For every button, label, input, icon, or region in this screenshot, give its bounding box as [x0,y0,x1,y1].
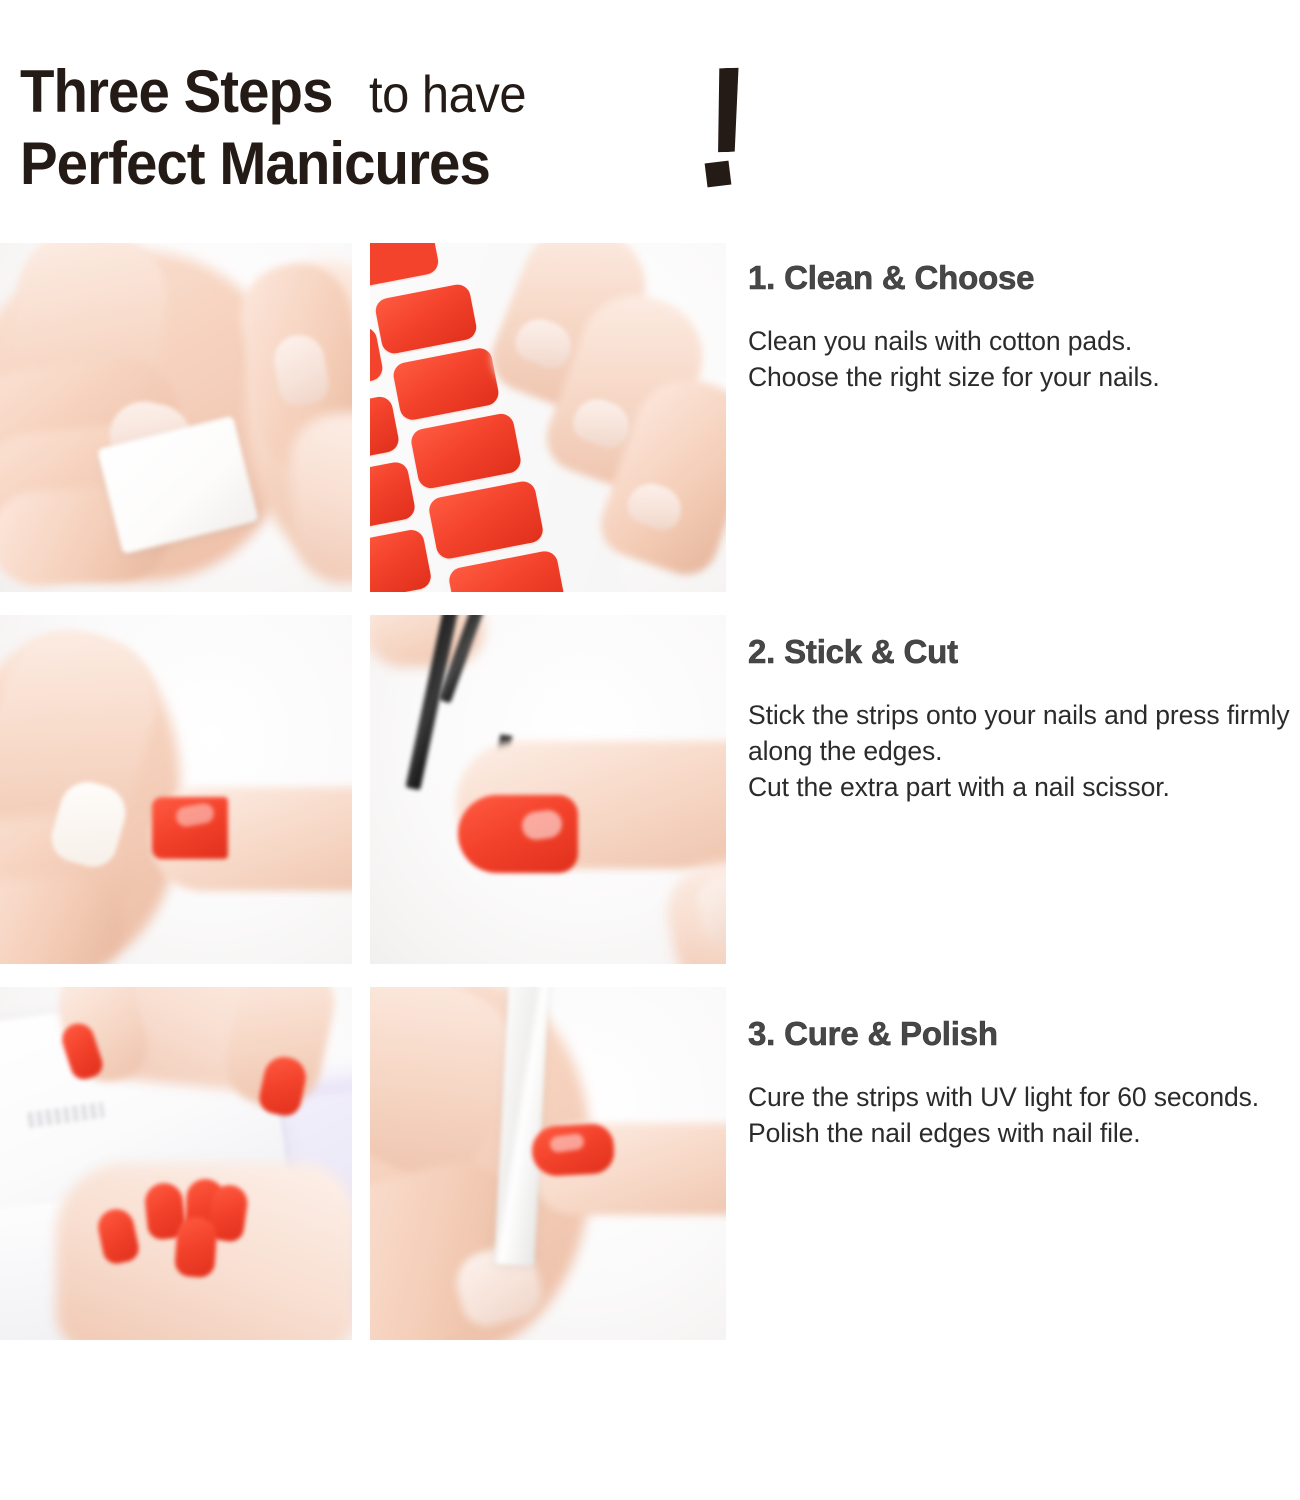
step-2-line-2: Cut the extra part with a nail scissor. [748,769,1300,805]
step-3-body: Cure the strips with UV light for 60 sec… [748,1079,1300,1151]
red-nail-shape [458,795,578,873]
photo-row-2 [0,615,726,964]
step-2-body: Stick the strips onto your nails and pre… [748,697,1300,805]
red-nail-shape [174,1216,218,1279]
photo-sticking-red-strip-on-nail [0,615,352,964]
title-bold-2: Perfect Manicures [20,134,490,194]
photo-red-nail-strip-sheet [370,243,726,592]
photo-row-1 [0,243,726,592]
step-1-body: Clean you nails with cotton pads. Choose… [748,323,1300,395]
step-3-line-2: Polish the nail edges with nail file. [748,1115,1300,1151]
title-bold-1: Three Steps [20,62,333,122]
title-line-2: Perfect Manicures [20,134,780,194]
exclamation-mark-icon [700,68,772,188]
photo-hands-with-cotton-pad [0,243,352,592]
title-light-1: to have [369,69,526,121]
step-1-title: 1. Clean & Choose [748,259,1300,297]
exclamation-stem [713,68,742,153]
step-2: 2. Stick & Cut Stick the strips onto you… [748,633,1300,805]
step-2-title: 2. Stick & Cut [748,633,1300,671]
step-1-line-1: Clean you nails with cotton pads. [748,323,1300,359]
step-3-title: 3. Cure & Polish [748,1015,1300,1053]
photo-cutting-strip-with-scissors [370,615,726,964]
photo-filing-nail-edge [370,987,726,1340]
step-2-line-1: Stick the strips onto your nails and pre… [748,697,1300,769]
step-1-line-2: Choose the right size for your nails. [748,359,1300,395]
photo-curing-nails-under-uv-lamp [0,987,352,1340]
page-title: Three Steps to have Perfect Manicures [20,62,780,194]
step-1: 1. Clean & Choose Clean you nails with c… [748,259,1300,395]
photo-row-3 [0,987,726,1336]
title-line-1: Three Steps to have [20,62,780,122]
step-3-line-1: Cure the strips with UV light for 60 sec… [748,1079,1300,1115]
infographic-page: Three Steps to have Perfect Manicures [0,0,1300,1500]
step-3: 3. Cure & Polish Cure the strips with UV… [748,1015,1300,1151]
photo-grid [0,243,726,1359]
exclamation-dot [705,161,732,188]
